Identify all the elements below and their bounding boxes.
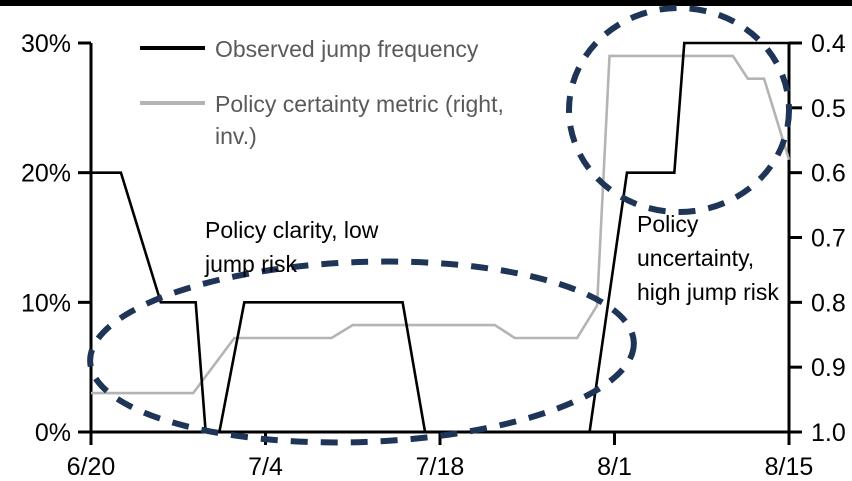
x-tick-label-4: 8/15 [765, 453, 814, 481]
legend-label-policy-certainty-metric: Policy certainty metric (right, [215, 91, 504, 117]
x-tick-label-1: 7/4 [248, 453, 283, 481]
x-axis: 6/207/47/188/18/15 [67, 432, 814, 481]
right-axis-tick-labels: 0.40.50.60.70.80.91.0 [811, 30, 846, 447]
legend-label-observed-jump-frequency: Observed jump frequency [215, 36, 479, 62]
left-tick-label-0: 0% [35, 419, 71, 447]
legend-entry-policy-certainty-metric: Policy certainty metric (right, inv.) [140, 91, 504, 149]
annotation-policy-clarity-line-1: Policy clarity, low [205, 217, 379, 243]
left-tick-label-2: 20% [21, 160, 71, 188]
left-tick-label-3: 30% [21, 30, 71, 58]
legend-label-policy-certainty-metric-line2: inv.) [215, 123, 257, 149]
left-axis-ticks [78, 43, 91, 432]
chart-canvas: 0%10%20%30% 6/207/47/188/18/15 0.40.50.6… [0, 0, 852, 481]
x-axis-ticks [91, 432, 789, 445]
chart-legend: Observed jump frequency Policy certainty… [140, 36, 504, 149]
annotation-policy-uncertainty-line-3: high jump risk [637, 279, 779, 305]
x-tick-label-0: 6/20 [67, 453, 116, 481]
left-axis: 0%10%20%30% [21, 30, 91, 447]
annotation-ellipse-policy-clarity [87, 253, 637, 452]
right-tick-label-2: 0.6 [811, 160, 846, 188]
chart-page: 0%10%20%30% 6/207/47/188/18/15 0.40.50.6… [0, 0, 852, 481]
left-axis-tick-labels: 0%10%20%30% [21, 30, 71, 447]
legend-entry-observed-jump-frequency: Observed jump frequency [140, 36, 479, 62]
annotation-policy-uncertainty-line-2: uncertainty, [637, 245, 754, 271]
right-tick-label-5: 0.9 [811, 354, 846, 382]
x-tick-label-3: 8/1 [597, 453, 632, 481]
right-axis-ticks [789, 43, 802, 432]
x-tick-label-2: 7/18 [416, 453, 465, 481]
right-tick-label-4: 0.8 [811, 289, 846, 317]
annotation-policy-uncertainty-line-1: Policy [637, 211, 699, 237]
x-axis-tick-labels: 6/207/47/188/18/15 [67, 453, 814, 481]
right-tick-label-0: 0.4 [811, 30, 846, 58]
right-axis: 0.40.50.60.70.80.91.0 [789, 30, 846, 447]
annotation-text-policy-uncertainty: Policy uncertainty, high jump risk [637, 211, 779, 305]
right-tick-label-3: 0.7 [811, 225, 846, 253]
annotation-text-policy-clarity: Policy clarity, low jump risk [204, 217, 379, 277]
right-tick-label-6: 1.0 [811, 419, 846, 447]
left-tick-label-1: 10% [21, 289, 71, 317]
annotation-policy-clarity-line-2: jump risk [204, 251, 298, 277]
right-tick-label-1: 0.5 [811, 95, 846, 123]
